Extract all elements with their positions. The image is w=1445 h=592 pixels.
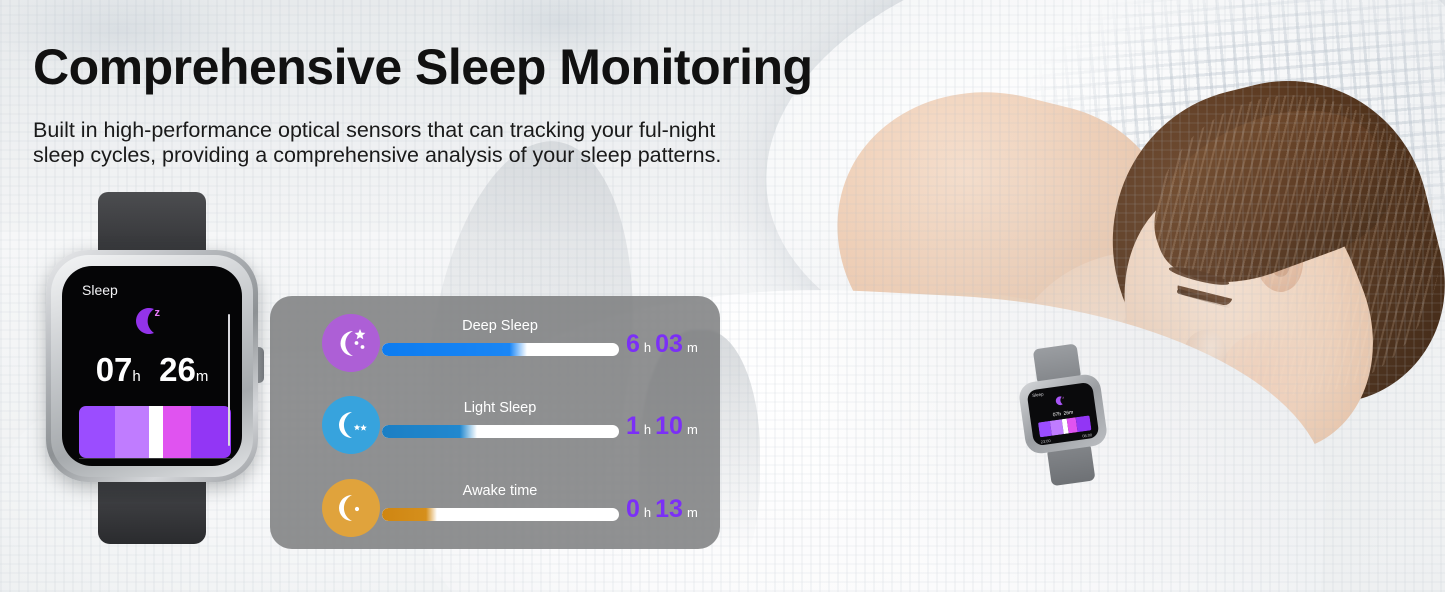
watch-bezel: Sleep z 07h 26m 23:00	[51, 255, 253, 477]
wrist-end-time: 08:00	[1082, 432, 1093, 438]
progress-bar-fill	[382, 508, 437, 521]
chart-time-axis: 23:00 08:00	[79, 464, 231, 466]
stat-minutes: 03	[655, 330, 683, 358]
progress-bar-track	[382, 508, 619, 521]
progress-bar-track	[382, 425, 619, 438]
moon-stars-icon	[322, 314, 380, 372]
wrist-watch-screen: Sleep z 07h 26m 23:00 08:00	[1026, 382, 1099, 447]
chart-axis-line	[79, 458, 231, 459]
stat-minutes: 13	[655, 495, 683, 523]
svg-text:z: z	[1062, 396, 1065, 400]
svg-text:z: z	[155, 307, 161, 319]
progress-bar-fill	[382, 425, 477, 438]
subtitle-line-1: Built in high-performance optical sensor…	[33, 118, 773, 143]
sleep-start-time: 23:00	[79, 464, 110, 466]
watch-case: Sleep z 07h 26m 23:00	[46, 250, 258, 482]
stat-minutes-unit: m	[687, 505, 698, 520]
stat-minutes-unit: m	[687, 340, 698, 355]
watch-total-minutes: 26	[159, 351, 196, 388]
watch-minutes-unit: m	[196, 368, 209, 385]
stat-label: Deep Sleep	[378, 318, 622, 334]
stat-minutes-unit: m	[687, 422, 698, 437]
wrist-screen-label: Sleep	[1032, 392, 1044, 399]
stat-hours-unit: h	[644, 505, 651, 520]
sleep-end-time: 08:00	[200, 464, 231, 466]
watch-total-hours: 07	[96, 351, 133, 388]
stat-value: 0h13m	[626, 495, 698, 524]
stat-row-light-sleep: Light Sleep 1h10m	[270, 396, 720, 460]
moon-dot-icon	[322, 479, 380, 537]
smartwatch: Sleep z 07h 26m 23:00	[38, 192, 260, 537]
moon-stars-icon	[322, 396, 380, 454]
stat-hours-unit: h	[644, 422, 651, 437]
sleep-segment	[149, 406, 163, 458]
moon-z-icon: z	[128, 304, 170, 338]
stat-row-awake-time: Awake time 0h13m	[270, 479, 720, 543]
stat-hours: 1	[626, 412, 640, 440]
stat-row-deep-sleep: Deep Sleep 6h03m	[270, 314, 720, 378]
sleep-segment	[191, 406, 231, 458]
progress-bar-fill	[382, 343, 527, 356]
page-subtitle: Built in high-performance optical sensor…	[33, 118, 773, 168]
watch-hours-unit: h	[132, 368, 140, 385]
wrist-start-time: 23:00	[1040, 438, 1051, 444]
sleep-segment	[163, 406, 192, 458]
stat-minutes: 10	[655, 412, 683, 440]
wrist-watch-case: Sleep z 07h 26m 23:00 08:00	[1017, 373, 1108, 456]
watch-sleep-duration: 07h 26m	[62, 351, 242, 389]
stat-hours: 0	[626, 495, 640, 523]
stat-value: 6h03m	[626, 330, 698, 359]
stat-label: Awake time	[378, 483, 622, 499]
sleep-segment	[79, 406, 115, 458]
page-title: Comprehensive Sleep Monitoring	[33, 38, 813, 96]
watch-screen[interactable]: Sleep z 07h 26m 23:00	[62, 266, 242, 466]
stat-hours-unit: h	[644, 340, 651, 355]
stat-value: 1h10m	[626, 412, 698, 441]
sleep-segment	[115, 406, 148, 458]
sleep-stats-panel: Deep Sleep 6h03m Light Sleep 1h10m	[270, 296, 720, 549]
moon-z-icon: z	[1053, 394, 1067, 407]
watch-screen-title: Sleep	[82, 282, 118, 298]
subtitle-line-2: sleep cycles, providing a comprehensive …	[33, 143, 773, 168]
stat-hours: 6	[626, 330, 640, 358]
sleep-stage-bar-chart	[79, 406, 231, 458]
progress-bar-track	[382, 343, 619, 356]
wrist-smartwatch: Sleep z 07h 26m 23:00 08:00	[1017, 373, 1108, 456]
stat-label: Light Sleep	[378, 400, 622, 416]
watch-scrollbar[interactable]	[228, 314, 231, 446]
